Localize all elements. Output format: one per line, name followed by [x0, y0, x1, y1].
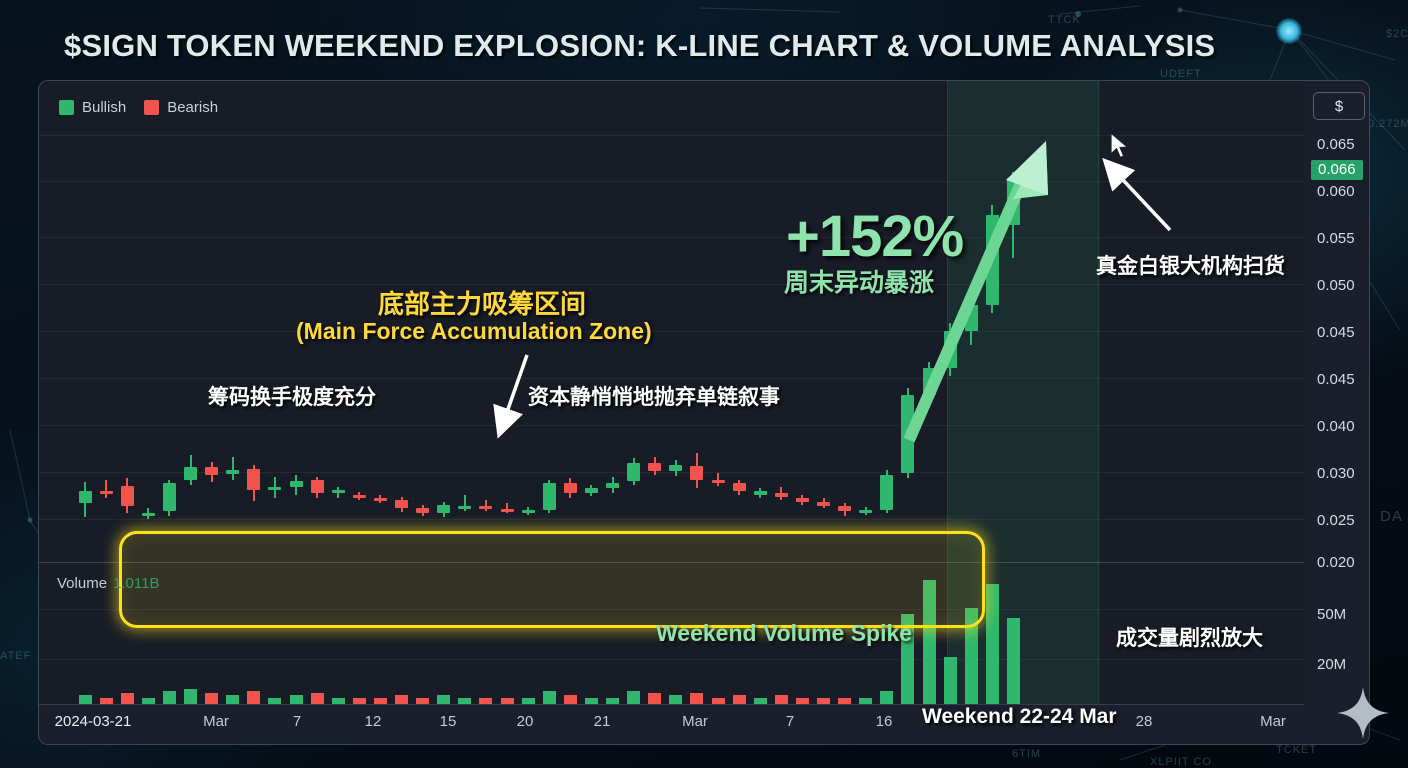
- volume-bar: [648, 693, 661, 704]
- volume-bar: [712, 698, 725, 704]
- price-tick: 0.040: [1317, 418, 1355, 435]
- candle-body: [79, 491, 92, 504]
- x-tick: 2024-03-21: [55, 713, 132, 730]
- volume-bar: [817, 698, 830, 704]
- candle-body: [648, 463, 661, 471]
- candle-body: [585, 488, 598, 493]
- background-label-atef: ATEF: [0, 650, 31, 662]
- background-label-s2c: $2C: [1386, 28, 1408, 40]
- volume-value: 1.011B: [113, 575, 159, 592]
- volume-bar: [374, 698, 387, 704]
- background-label-6tim: 6TIM: [1012, 748, 1041, 760]
- x-tick: Mar: [1260, 713, 1286, 730]
- volume-bar: [627, 691, 640, 704]
- volume-bar: [332, 698, 345, 704]
- candlestick: [226, 457, 239, 480]
- candle-body: [838, 506, 851, 511]
- current-price-badge: 0.066: [1311, 160, 1363, 180]
- mouse-cursor-icon: [1110, 132, 1132, 162]
- candlestick: [142, 508, 155, 519]
- volume-bar: [458, 698, 471, 704]
- candle-body: [712, 480, 725, 483]
- volume-bar: [880, 691, 893, 704]
- candle-body: [859, 510, 872, 513]
- x-tick: 15: [440, 713, 457, 730]
- candle-body: [627, 463, 640, 481]
- candle-body: [226, 470, 239, 474]
- candlestick: [606, 477, 619, 494]
- candle-body: [564, 483, 577, 493]
- candlestick: [923, 362, 936, 409]
- chart-legend: Bullish Bearish: [59, 99, 218, 116]
- candle-body: [374, 498, 387, 501]
- candlestick: [543, 480, 556, 513]
- x-tick: 20: [517, 713, 534, 730]
- candlestick: [268, 477, 281, 499]
- accumulation-zone-title-en: (Main Force Accumulation Zone): [296, 318, 652, 345]
- x-tick: Mar: [203, 713, 229, 730]
- volume-bar: [268, 698, 281, 704]
- candlestick: [437, 502, 450, 517]
- candle-body: [311, 480, 324, 493]
- x-tick: 7: [786, 713, 794, 730]
- weekend-range-label: Weekend 22-24 Mar: [922, 705, 1117, 729]
- volume-bar: [606, 698, 619, 704]
- candlestick: [184, 455, 197, 485]
- volume-tick: 50M: [1317, 606, 1346, 623]
- note-chip-turnover: 筹码换手极度充分: [208, 381, 376, 411]
- volume-bar: [986, 584, 999, 704]
- accumulation-zone-box: [119, 531, 985, 628]
- candlestick: [1007, 172, 1020, 259]
- gain-percentage: +152%: [786, 203, 963, 270]
- volume-bar: [775, 695, 788, 704]
- volume-bar: [522, 698, 535, 704]
- volume-bar: [437, 695, 450, 704]
- background-label-0272m: 0.272M: [1368, 118, 1408, 130]
- volume-bar: [311, 693, 324, 704]
- volume-bar: [733, 695, 746, 704]
- candle-body: [923, 368, 936, 395]
- volume-bar: [1007, 618, 1020, 704]
- candlestick: [501, 503, 514, 513]
- candle-body: [416, 508, 429, 513]
- candlestick: [205, 462, 218, 482]
- background-label-udeft: UDEFT: [1160, 68, 1202, 80]
- candle-body: [690, 466, 703, 479]
- candlestick: [79, 482, 92, 518]
- price-axis[interactable]: $ 0.065 0.066 0.060 0.055 0.050 0.045 0.…: [1305, 81, 1370, 704]
- candlestick: [395, 497, 408, 512]
- time-axis[interactable]: 2024-03-21 Mar 7 12 15 20 21 Mar 7 16 28…: [39, 705, 1370, 745]
- gain-percentage-subtitle: 周末异动暴涨: [784, 263, 934, 299]
- volume-bar: [184, 689, 197, 704]
- candle-body: [290, 481, 303, 487]
- candle-body: [268, 487, 281, 490]
- x-tick: 28: [1136, 713, 1153, 730]
- candle-wick: [232, 457, 234, 480]
- candle-body: [796, 498, 809, 502]
- price-tick: 0.020: [1317, 554, 1355, 571]
- candle-body: [944, 331, 957, 368]
- candlestick: [163, 480, 176, 516]
- candle-body: [543, 483, 556, 510]
- price-tick: 0.045: [1317, 371, 1355, 388]
- candle-body: [880, 475, 893, 510]
- legend-label-bullish: Bullish: [82, 99, 126, 116]
- candle-body: [163, 483, 176, 511]
- legend-item-bullish: Bullish: [59, 99, 126, 116]
- candle-body: [606, 483, 619, 488]
- candlestick: [458, 495, 471, 512]
- candlestick: [121, 478, 134, 513]
- volume-panel-title: Volume1.011B: [57, 575, 159, 592]
- volume-bar: [247, 691, 260, 704]
- candlestick: [627, 458, 640, 485]
- volume-bar: [944, 657, 957, 704]
- candle-body: [986, 215, 999, 305]
- price-tick: 0.065: [1317, 136, 1355, 153]
- candle-body: [437, 505, 450, 513]
- candle-wick: [105, 480, 107, 498]
- candlestick: [669, 460, 682, 477]
- candlestick: [585, 485, 598, 497]
- candlestick: [944, 323, 957, 376]
- volume-bar: [163, 691, 176, 704]
- candlestick: [817, 498, 830, 508]
- volume-label: Volume: [57, 575, 107, 592]
- volume-bar: [564, 695, 577, 704]
- background-label-da: DA: [1380, 508, 1403, 525]
- institution-buying-note: 真金白银大机构扫货: [1096, 250, 1285, 280]
- candlestick: [332, 487, 345, 499]
- volume-bar: [290, 695, 303, 704]
- candle-body: [501, 509, 514, 512]
- price-tick: 0.060: [1317, 183, 1355, 200]
- volume-bar: [353, 698, 366, 704]
- candlestick: [754, 488, 767, 498]
- volume-bar: [838, 698, 851, 704]
- screenshot-root: TTCK UDEFT $2C 0.272M DA ATEF 6TIM XLPII…: [0, 0, 1408, 768]
- candlestick: [374, 495, 387, 503]
- volume-bar: [416, 698, 429, 704]
- accumulation-zone-title-cn: 底部主力吸筹区间: [378, 284, 586, 321]
- candle-body: [754, 491, 767, 494]
- candle-body: [395, 500, 408, 508]
- candle-body: [522, 510, 535, 513]
- currency-selector[interactable]: $: [1313, 92, 1365, 120]
- price-tick: 0.030: [1317, 465, 1355, 482]
- note-capital-narrative: 资本静悄悄地抛弃单链叙事: [528, 381, 780, 411]
- weekend-volume-spike-label: Weekend Volume Spike: [656, 620, 912, 647]
- price-tick: 0.025: [1317, 512, 1355, 529]
- candlestick: [690, 453, 703, 488]
- volume-bar: [585, 698, 598, 704]
- candlestick: [775, 487, 788, 500]
- bearish-swatch-icon: [144, 100, 159, 115]
- volume-bar: [100, 698, 113, 704]
- candlestick: [353, 492, 366, 500]
- x-tick: 7: [293, 713, 301, 730]
- volume-bar: [205, 693, 218, 704]
- bullish-swatch-icon: [59, 100, 74, 115]
- candle-body: [669, 465, 682, 472]
- candle-body: [100, 491, 113, 494]
- background-label-xlpiit: XLPIIT CO: [1150, 756, 1212, 768]
- volume-bar: [226, 695, 239, 704]
- volume-bar: [690, 693, 703, 704]
- price-tick: 0.050: [1317, 277, 1355, 294]
- candle-body: [479, 506, 492, 509]
- candle-body: [142, 513, 155, 516]
- candlestick: [880, 470, 893, 513]
- candlestick: [290, 475, 303, 495]
- candle-body: [1007, 178, 1020, 225]
- legend-item-bearish: Bearish: [144, 99, 218, 116]
- candlestick: [965, 297, 978, 345]
- candlestick: [838, 503, 851, 516]
- candlestick: [564, 478, 577, 498]
- glow-node-right: [1276, 18, 1302, 44]
- candle-body: [184, 467, 197, 480]
- x-tick: 16: [876, 713, 893, 730]
- candlestick: [986, 205, 999, 313]
- candlestick: [479, 500, 492, 512]
- candle-body: [205, 467, 218, 475]
- candlestick: [416, 505, 429, 517]
- volume-bar: [121, 693, 134, 704]
- candlestick: [796, 495, 809, 505]
- candle-body: [121, 486, 134, 506]
- candlestick: [100, 480, 113, 498]
- x-tick: Mar: [682, 713, 708, 730]
- price-tick: 0.045: [1317, 324, 1355, 341]
- volume-bar: [543, 691, 556, 704]
- candlestick: [859, 507, 872, 515]
- candle-body: [775, 493, 788, 497]
- x-tick: 21: [594, 713, 611, 730]
- volume-tick: 20M: [1317, 656, 1346, 673]
- candle-body: [332, 490, 345, 493]
- candlestick: [733, 480, 746, 495]
- volume-amplified-note: 成交量剧烈放大: [1116, 622, 1263, 652]
- candle-body: [733, 483, 746, 491]
- candle-wick: [464, 495, 466, 512]
- volume-bar: [142, 698, 155, 704]
- background-label-ttck: TTCK: [1048, 14, 1081, 26]
- background-label-tcket: TCKET: [1276, 744, 1317, 756]
- volume-bar: [501, 698, 514, 704]
- volume-bar: [669, 695, 682, 704]
- volume-bar: [479, 698, 492, 704]
- volume-bar: [859, 698, 872, 704]
- candle-body: [965, 305, 978, 332]
- candlestick: [901, 388, 914, 478]
- volume-bar: [79, 695, 92, 704]
- price-tick: 0.055: [1317, 230, 1355, 247]
- page-title: $SIGN TOKEN WEEKEND EXPLOSION: K-LINE CH…: [64, 28, 1215, 64]
- candle-body: [901, 395, 914, 473]
- candle-body: [458, 506, 471, 509]
- volume-bar: [754, 698, 767, 704]
- candlestick: [648, 457, 661, 475]
- volume-bar: [395, 695, 408, 704]
- candlestick: [311, 477, 324, 499]
- candlestick: [247, 465, 260, 501]
- candle-body: [247, 469, 260, 490]
- sparkle-icon: [1336, 686, 1390, 740]
- candle-body: [817, 502, 830, 506]
- legend-label-bearish: Bearish: [167, 99, 218, 116]
- x-tick: 12: [365, 713, 382, 730]
- volume-bar: [796, 698, 809, 704]
- candlestick: [522, 507, 535, 515]
- candlestick: [712, 473, 725, 486]
- candle-body: [353, 495, 366, 498]
